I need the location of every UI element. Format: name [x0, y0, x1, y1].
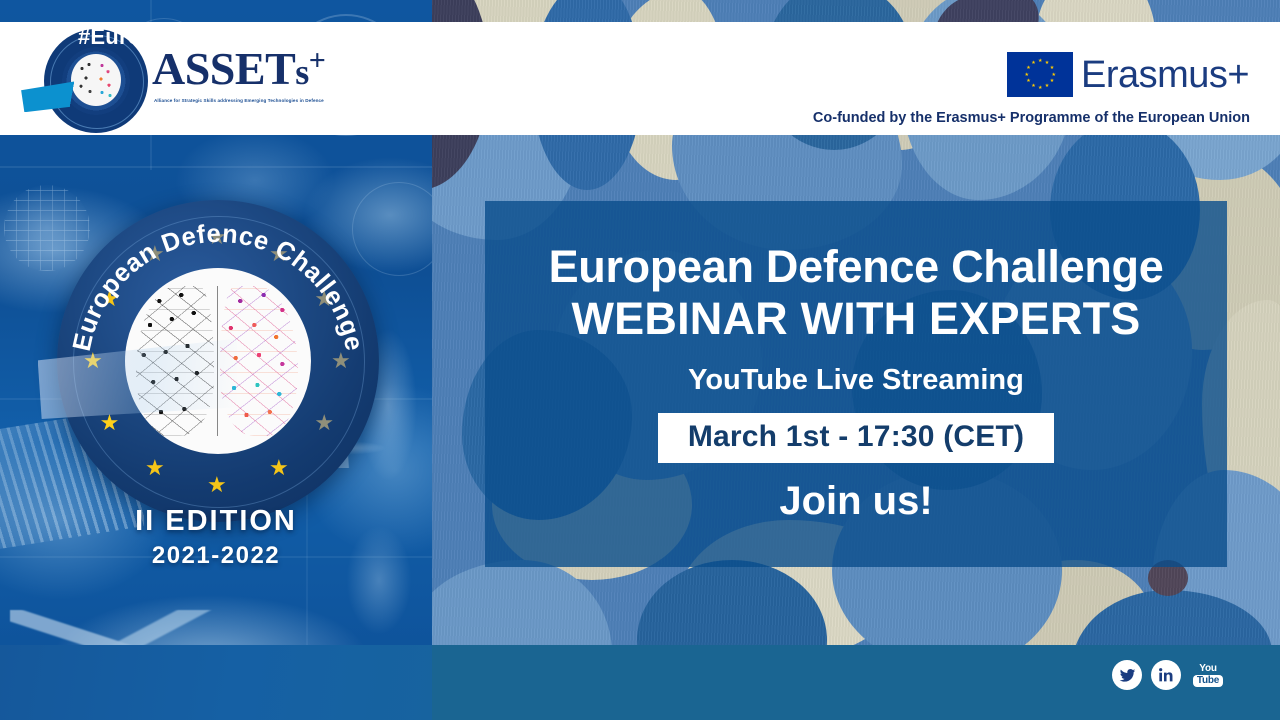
- youtube-icon[interactable]: You Tube: [1190, 659, 1226, 691]
- european-defence-challenge-emblem: ★★★★★★★★★★★★ European Defence Challenge: [57, 200, 379, 522]
- eu-star-icon: ★: [1045, 84, 1049, 88]
- event-info-panel: European Defence Challenge WEBINAR WITH …: [485, 201, 1227, 567]
- eu-flag-stars: ★★★★★★★★★★★★: [1007, 52, 1073, 97]
- event-title-line2: WEBINAR WITH EXPERTS: [571, 294, 1140, 344]
- collage-seam: [0, 166, 432, 168]
- social-links: You Tube: [1112, 659, 1226, 691]
- event-date-badge: March 1st - 17:30 (CET): [658, 413, 1054, 463]
- eu-star-icon: ★: [1038, 86, 1042, 90]
- eu-star-icon: ★: [1050, 66, 1054, 70]
- cofunding-statement: Co-funded by the Erasmus+ Programme of t…: [0, 110, 1250, 126]
- edition-block: II EDITION 2021-2022: [0, 505, 432, 570]
- eu-star-icon: ★: [1052, 73, 1056, 77]
- promotional-banner: ASSETs+ Alliance for Strategic Skills ad…: [0, 0, 1280, 720]
- youtube-icon-you: You: [1199, 664, 1217, 674]
- event-platform: YouTube Live Streaming: [688, 364, 1024, 397]
- assets-wordmark: ASSETs+: [152, 46, 325, 92]
- svg-text:European Defence Challenge: European Defence Challenge: [68, 220, 368, 354]
- assets-wordmark-main: ASSET: [152, 43, 295, 94]
- eu-star-icon: ★: [1026, 66, 1030, 70]
- eu-star-icon: ★: [1031, 84, 1035, 88]
- emblem-arc-text: European Defence Challenge: [57, 200, 379, 522]
- twitter-icon[interactable]: [1112, 660, 1142, 690]
- event-date-text: March 1st - 17:30 (CET): [688, 420, 1024, 453]
- linkedin-icon[interactable]: [1151, 660, 1181, 690]
- eu-star-icon: ★: [1026, 79, 1030, 83]
- event-call-to-action: Join us!: [779, 479, 932, 524]
- assets-tagline: Alliance for Strategic Skills addressing…: [154, 98, 334, 103]
- eu-star-icon: ★: [1031, 61, 1035, 65]
- eu-star-icon: ★: [1038, 59, 1042, 63]
- eu-star-icon: ★: [1050, 79, 1054, 83]
- eu-star-icon: ★: [1025, 73, 1029, 77]
- footer-bar-left: [0, 645, 432, 720]
- assets-wordmark-lower: s: [295, 52, 309, 92]
- youtube-icon-tube: Tube: [1193, 675, 1223, 687]
- eu-flag-icon: ★★★★★★★★★★★★: [1007, 52, 1073, 97]
- edition-number: II EDITION: [0, 505, 432, 538]
- website-url[interactable]: www.assets-plus.eu: [858, 25, 1073, 51]
- footer-bar: [0, 645, 1280, 720]
- event-title-line1: European Defence Challenge: [549, 243, 1164, 292]
- edition-years: 2021-2022: [0, 542, 432, 570]
- event-hashtag: #EuropeanDefenceChallenge: [78, 24, 387, 50]
- erasmus-wordmark: Erasmus+: [1081, 53, 1249, 97]
- eu-star-icon: ★: [1045, 61, 1049, 65]
